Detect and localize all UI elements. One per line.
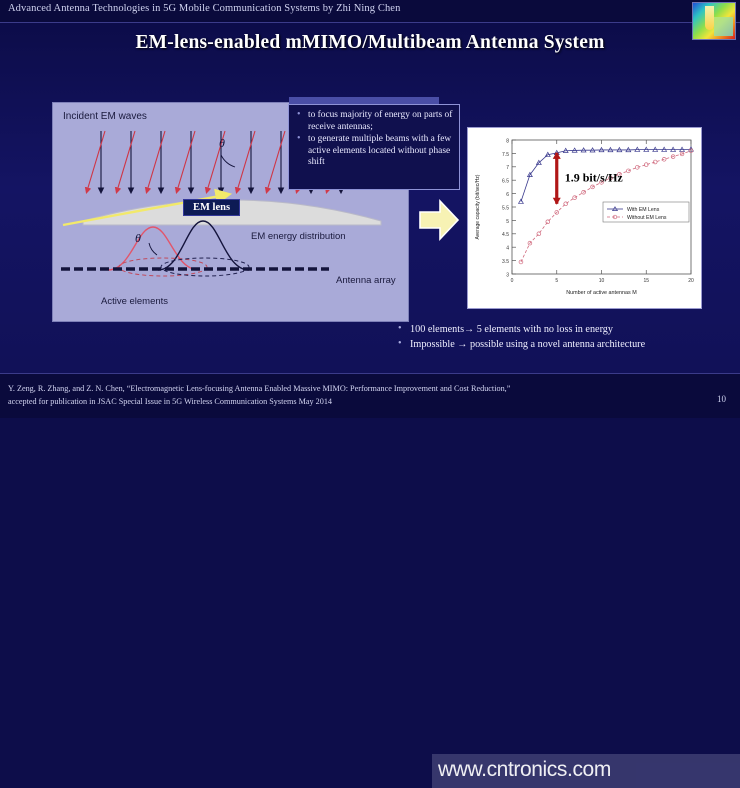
svg-text:7.5: 7.5 xyxy=(502,152,509,158)
page-number: 10 xyxy=(717,394,726,404)
svg-text:8: 8 xyxy=(506,138,509,144)
em-energy-distribution-label: EM energy distribution xyxy=(251,231,346,242)
svg-text:1.9 bit/s/Hz: 1.9 bit/s/Hz xyxy=(565,170,624,184)
callout-top-bar xyxy=(289,97,439,104)
right-arrow-icon xyxy=(418,196,460,244)
header-title: Advanced Antenna Technologies in 5G Mobi… xyxy=(8,3,400,14)
antenna-array-label: Antenna array xyxy=(336,275,396,286)
svg-text:7: 7 xyxy=(506,165,509,171)
callout-item: to focus majority of energy on parts of … xyxy=(295,110,453,133)
svg-text:0: 0 xyxy=(511,278,514,284)
svg-text:5: 5 xyxy=(506,219,509,225)
summary-bullet: Impossible → possible using a novel ante… xyxy=(396,337,736,352)
svg-text:Number of active antennas M: Number of active antennas M xyxy=(566,290,637,296)
svg-text:With EM Lens: With EM Lens xyxy=(627,207,660,213)
svg-text:Average capacity (bit/sec/Hz): Average capacity (bit/sec/Hz) xyxy=(475,174,481,239)
svg-text:5: 5 xyxy=(555,278,558,284)
citation-line-2: accepted for publication in JSAC Special… xyxy=(8,397,332,406)
svg-text:3.5: 3.5 xyxy=(502,259,509,265)
watermark: www.cntronics.com xyxy=(432,754,740,788)
chart-plot-area: 33.544.555.566.577.5805101520Number of a… xyxy=(468,128,701,308)
summary-bullet: 100 elements→ 5 elements with no loss in… xyxy=(396,322,736,337)
em-lens-label: EM lens xyxy=(183,199,240,216)
svg-text:6.5: 6.5 xyxy=(502,179,509,185)
callout-list: to focus majority of energy on parts of … xyxy=(289,105,459,169)
svg-text:6: 6 xyxy=(506,192,509,198)
svg-text:Without EM Lens: Without EM Lens xyxy=(627,215,667,221)
slide-canvas: Advanced Antenna Technologies in 5G Mobi… xyxy=(0,0,740,417)
citation-line-1: Y. Zeng, R. Zhang, and Z. N. Chen, “Elec… xyxy=(8,384,510,393)
active-elements-label: Active elements xyxy=(101,296,168,307)
svg-text:5.5: 5.5 xyxy=(502,205,509,211)
svg-text:10: 10 xyxy=(599,278,605,284)
callout-item: to generate multiple beams with a few ac… xyxy=(295,134,453,169)
svg-text:15: 15 xyxy=(643,278,649,284)
theta-angle-upper: θ xyxy=(219,136,225,151)
watermark-text: www.cntronics.com xyxy=(438,758,611,782)
capacity-chart: 33.544.555.566.577.5805101520Number of a… xyxy=(467,127,702,309)
slide-header: Advanced Antenna Technologies in 5G Mobi… xyxy=(0,0,740,23)
slide-footer: Y. Zeng, R. Zhang, and Z. N. Chen, “Elec… xyxy=(0,373,740,418)
svg-text:3: 3 xyxy=(506,272,509,278)
svg-text:4.5: 4.5 xyxy=(502,232,509,238)
svg-text:4: 4 xyxy=(506,246,509,252)
theta-angle-lower: θ xyxy=(135,231,141,246)
page-title: EM-lens-enabled mMIMO/Multibeam Antenna … xyxy=(0,32,740,54)
summary-bullets: 100 elements→ 5 elements with no loss in… xyxy=(396,322,736,352)
benefits-callout: to focus majority of energy on parts of … xyxy=(288,104,460,190)
svg-text:20: 20 xyxy=(688,278,694,284)
